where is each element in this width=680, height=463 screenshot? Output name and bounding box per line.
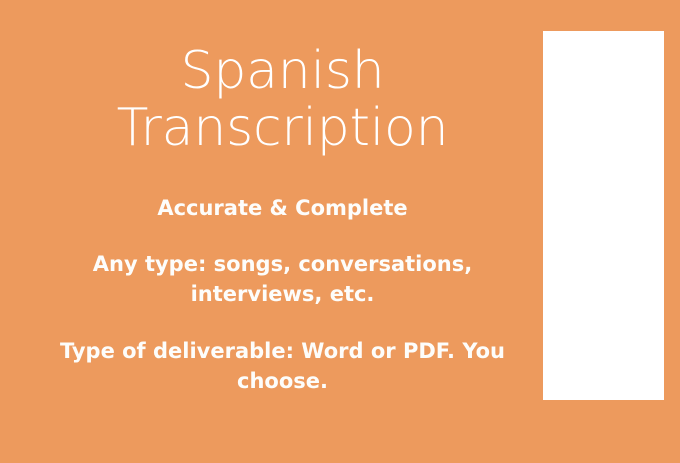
tagline-text: Accurate & Complete [48, 195, 518, 222]
text-column: Spanish Transcription Accurate & Complet… [0, 0, 625, 463]
promo-slide: Spanish Transcription Accurate & Complet… [0, 0, 680, 463]
page-title: Spanish Transcription [48, 43, 518, 157]
service-types-text: Any type: songs, conversations, intervie… [83, 249, 483, 309]
page-title-line-1: Spanish [48, 43, 518, 100]
deliverable-format-text: Type of deliverable: Word or PDF. You ch… [57, 336, 509, 396]
page-title-line-2: Transcription [48, 100, 518, 157]
image-placeholder-panel [543, 31, 664, 400]
